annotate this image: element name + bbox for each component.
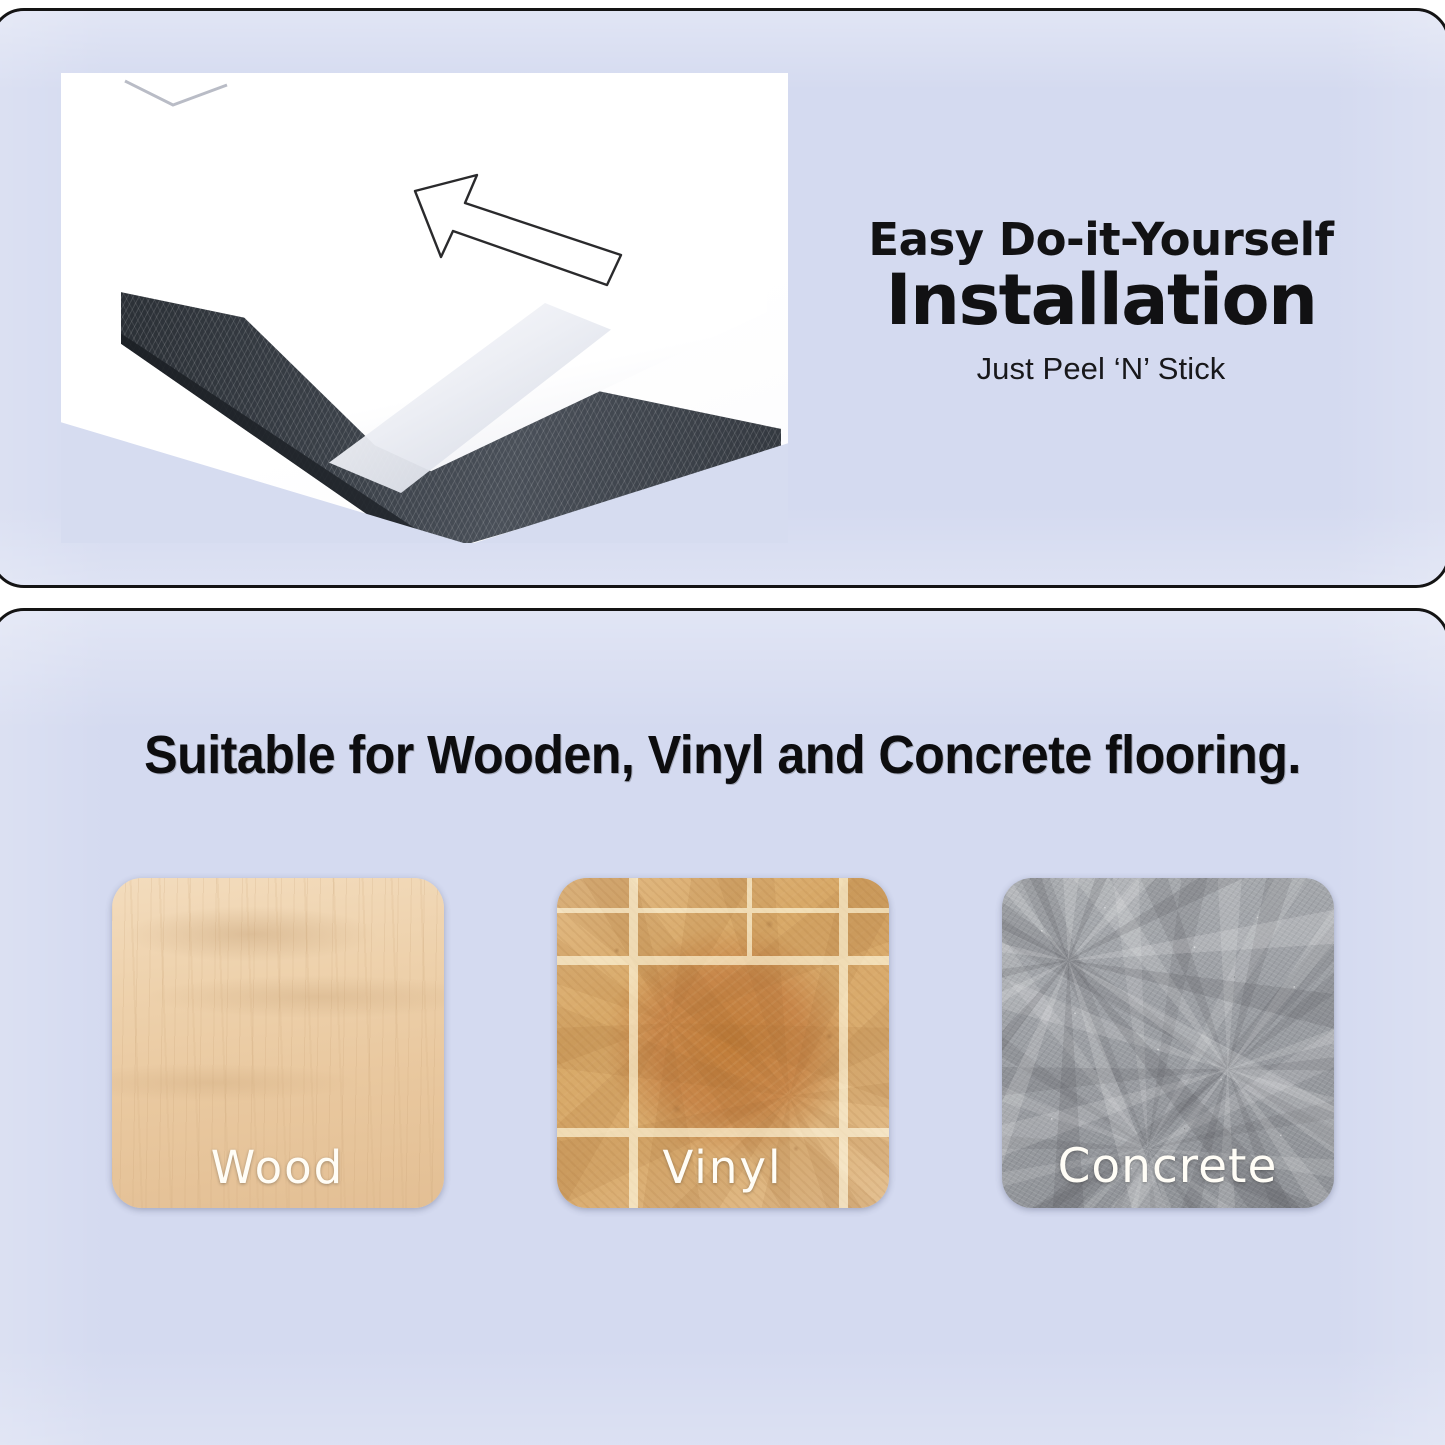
- wood-swatch-label: Wood: [112, 1141, 444, 1194]
- product-infographic: Easy Do-it-Yourself Installation Just Pe…: [0, 0, 1445, 1445]
- wood-swatch[interactable]: Wood: [112, 878, 444, 1208]
- headline-line-2: Installation: [811, 265, 1391, 335]
- concrete-swatch-label: Concrete: [1002, 1139, 1334, 1194]
- material-swatch-row: Wood Vinyl Concrete: [0, 878, 1445, 1208]
- vinyl-swatch-label: Vinyl: [557, 1141, 889, 1194]
- vinyl-swatch[interactable]: Vinyl: [557, 878, 889, 1208]
- peel-and-stick-tile-photo: [61, 73, 788, 543]
- peel-direction-arrow: [407, 169, 637, 309]
- concrete-swatch[interactable]: Concrete: [1002, 878, 1334, 1208]
- headline-line-1: Easy Do-it-Yourself: [811, 217, 1391, 263]
- installation-panel: Easy Do-it-Yourself Installation Just Pe…: [0, 8, 1445, 588]
- headline-block: Easy Do-it-Yourself Installation Just Pe…: [811, 217, 1391, 387]
- liner-corner-mark-icon: [121, 75, 241, 125]
- headline-subtitle: Just Peel ‘N’ Stick: [811, 351, 1391, 387]
- flooring-compatibility-heading: Suitable for Wooden, Vinyl and Concrete …: [51, 724, 1395, 786]
